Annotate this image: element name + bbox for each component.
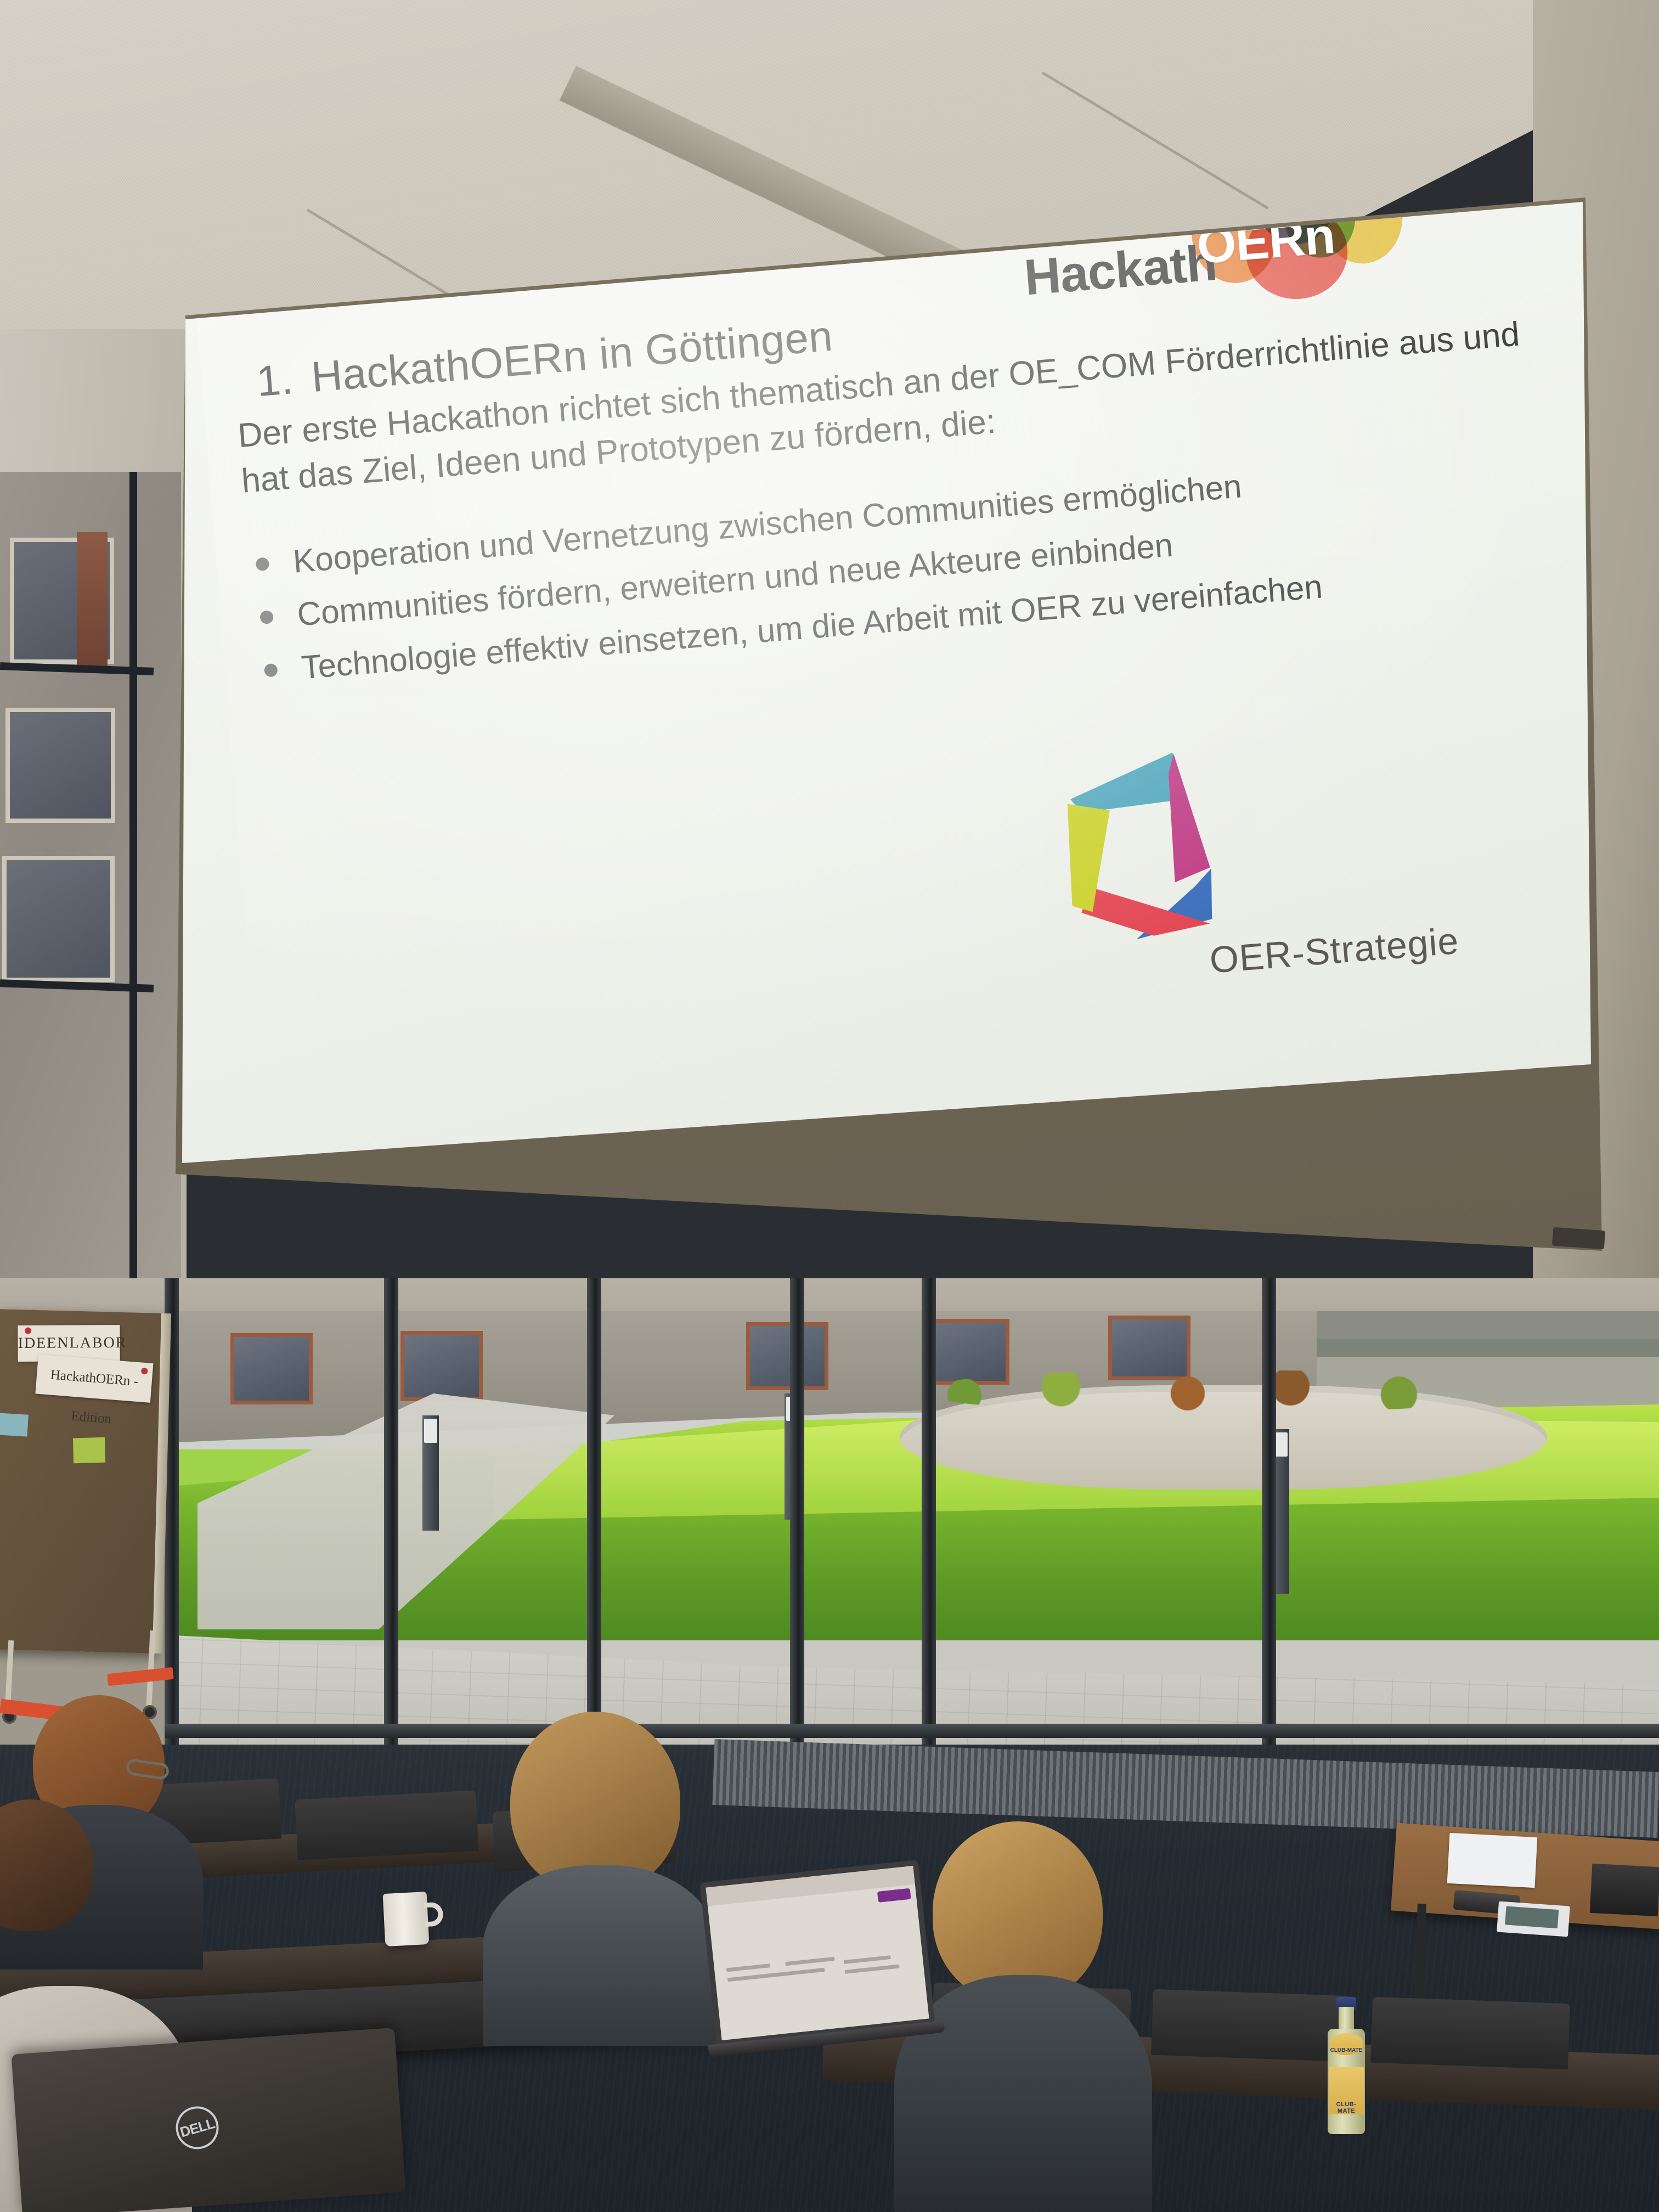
seat-back (1370, 1997, 1570, 2069)
bottle-label-main: CLUB-MATE (1329, 2067, 1364, 2114)
oer-strategie-mark (1057, 731, 1304, 968)
laptop-screen-content (706, 1866, 929, 2040)
av-touch-panel[interactable] (1497, 1901, 1570, 1937)
sticky-note (0, 1413, 29, 1437)
exterior-window (2, 856, 115, 982)
sign-hackathoern-edition: HackathOERn - Edition (35, 1355, 153, 1403)
bollard-lamp (422, 1415, 439, 1531)
bullet-dot-icon (264, 663, 278, 677)
oer-strategie-logo: OER-Strategie (1057, 719, 1461, 1023)
window-sill (165, 1724, 1659, 1738)
bottle-label-top: CLUB-MATE (1330, 2033, 1363, 2055)
window-mullion-vertical (129, 472, 137, 1295)
coffee-mug (383, 1892, 430, 1946)
left-glass-wall (0, 472, 181, 1295)
pinboard: IDEENLABOR HackathOERn - Edition (0, 1309, 163, 1654)
screen-accent-pill (877, 1888, 911, 1903)
projection-screen: 1.HackathOERn in Göttingen Der erste Hac… (165, 198, 1602, 1393)
sticky-note (73, 1437, 105, 1464)
building-column (77, 532, 108, 669)
person-shoulders (483, 1865, 719, 2046)
seat-back (295, 1790, 478, 1860)
laptop-screen (699, 1860, 935, 2046)
photo-scene: 1.HackathOERn in Göttingen Der erste Hac… (0, 0, 1659, 2212)
sign-ideenlabor: IDEENLABOR (18, 1325, 120, 1362)
club-mate-bottle: CLUB-MATE CLUB-MATE (1328, 1997, 1365, 2134)
logo-triangle-magenta (1165, 752, 1211, 882)
hackathoern-word-light: OERn (1195, 207, 1337, 276)
dell-logo: DELL (171, 2101, 223, 2154)
bullet-dot-icon (259, 610, 274, 624)
desk-equipment-box (1590, 1864, 1659, 1916)
dell-laptop[interactable]: DELL (11, 2028, 405, 2212)
paper-sheet (1447, 1833, 1538, 1888)
exterior-window (5, 708, 115, 823)
screen-weight-bar (1552, 1227, 1605, 1250)
open-laptop[interactable] (699, 1860, 935, 2046)
slide-title-number: 1. (255, 354, 295, 405)
bullet-dot-icon (256, 557, 270, 571)
seat-back (1151, 1989, 1351, 2062)
